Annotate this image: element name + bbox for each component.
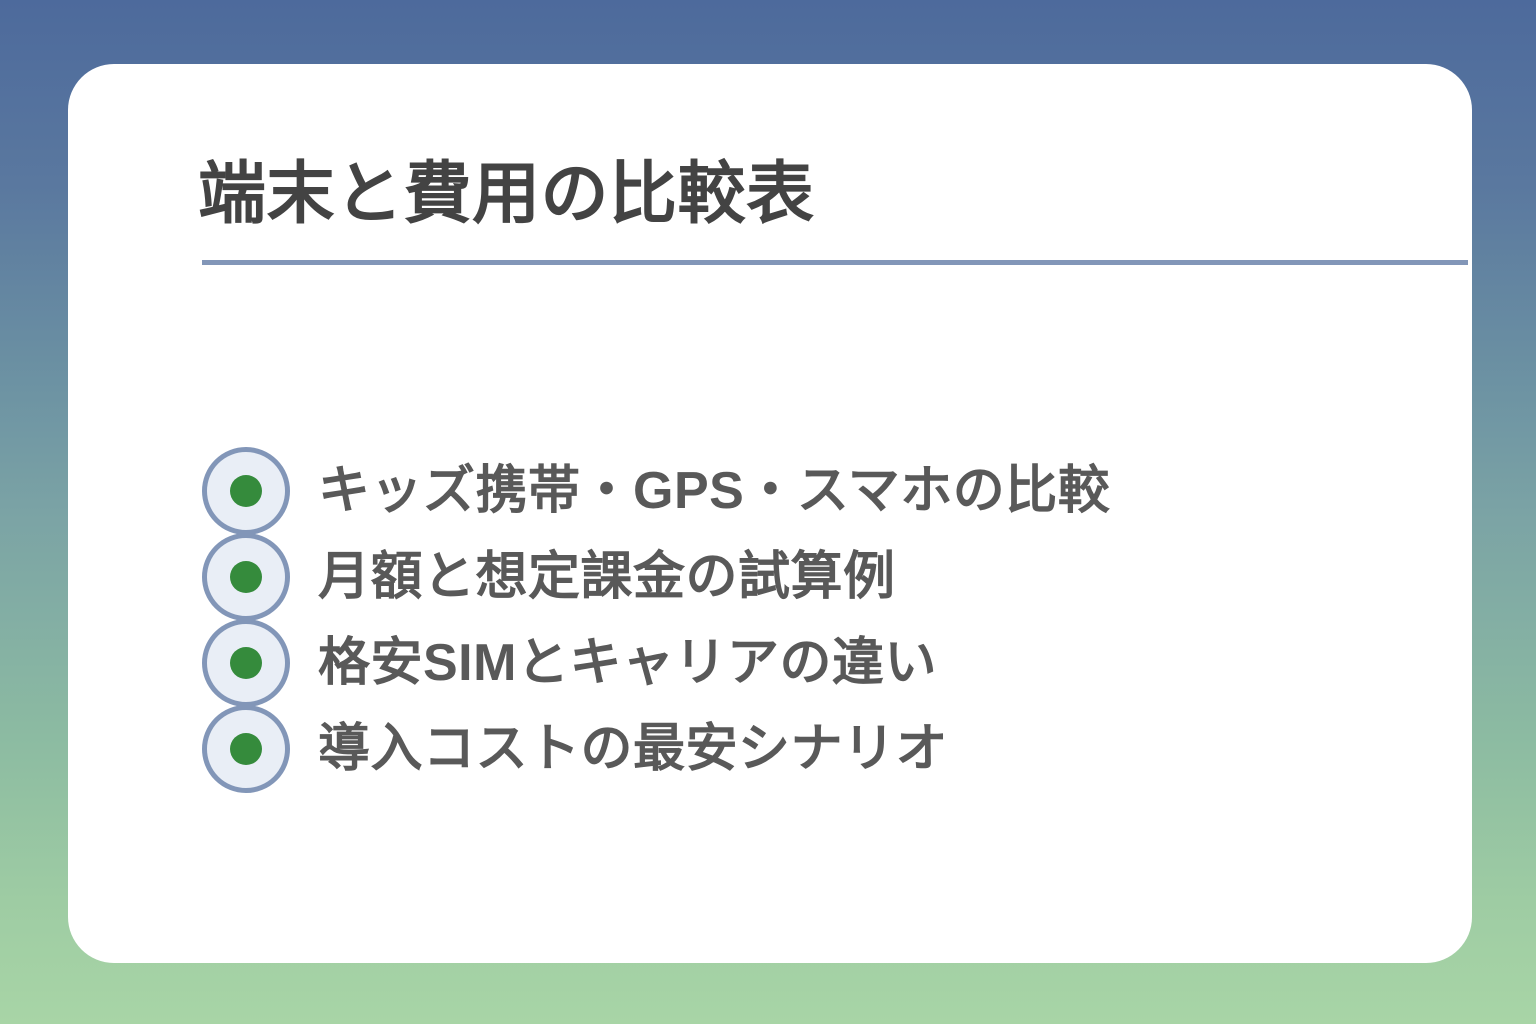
- bullet-dot-icon: [230, 475, 262, 507]
- page-title: 端末と費用の比較表: [198, 160, 815, 228]
- list-item-label: キッズ携帯・GPS・スマホの比較: [318, 464, 1110, 519]
- slide-canvas: 端末と費用の比較表 キッズ携帯・GPS・スマホの比較 月額と想定課金の試算例: [0, 0, 1536, 1024]
- list-item: キッズ携帯・GPS・スマホの比較: [202, 448, 1442, 534]
- list-item: 月額と想定課金の試算例: [202, 534, 1442, 620]
- bullet-circle-icon: [202, 619, 290, 707]
- bullet-circle-icon: [202, 533, 290, 621]
- bullet-list: キッズ携帯・GPS・スマホの比較 月額と想定課金の試算例 格安SIMとキャリアの…: [202, 448, 1442, 792]
- bullet-dot-icon: [230, 647, 262, 679]
- title-divider: [202, 260, 1468, 265]
- bullet-dot-icon: [230, 733, 262, 765]
- list-item: 導入コストの最安シナリオ: [202, 706, 1442, 792]
- list-item-label: 格安SIMとキャリアの違い: [318, 636, 937, 691]
- list-item: 格安SIMとキャリアの違い: [202, 620, 1442, 706]
- bullet-circle-icon: [202, 705, 290, 793]
- bullet-circle-icon: [202, 447, 290, 535]
- bullet-dot-icon: [230, 561, 262, 593]
- list-item-label: 月額と想定課金の試算例: [318, 550, 896, 605]
- list-item-label: 導入コストの最安シナリオ: [318, 722, 948, 777]
- content-card: 端末と費用の比較表 キッズ携帯・GPS・スマホの比較 月額と想定課金の試算例: [68, 64, 1472, 963]
